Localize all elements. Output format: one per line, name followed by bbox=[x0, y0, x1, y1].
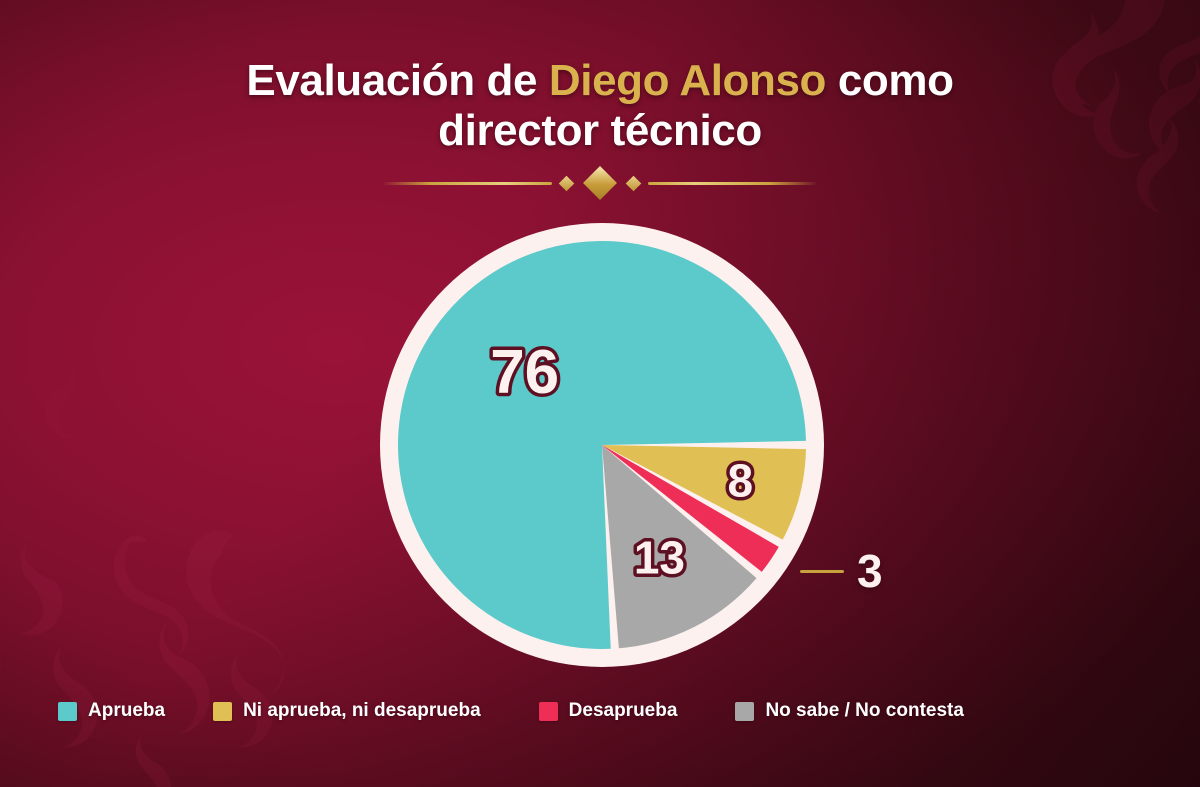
ornament-rule-right bbox=[648, 182, 816, 185]
legend-item-aprueba[interactable]: Aprueba bbox=[58, 700, 165, 722]
pie-chart: 76813 bbox=[374, 217, 830, 673]
title-line-2: director técnico bbox=[0, 106, 1200, 156]
ornament-rule-left bbox=[384, 182, 552, 185]
pie-value-label: 8 bbox=[728, 455, 754, 507]
title-text-part1: Evaluación de bbox=[246, 56, 549, 105]
legend-swatch-desaprueba bbox=[539, 702, 558, 721]
legend-label-ni-aprueba: Ni aprueba, ni desaprueba bbox=[243, 700, 481, 722]
legend-label-desaprueba: Desaprueba bbox=[569, 700, 678, 722]
ornament-diamond-center bbox=[583, 166, 617, 200]
pie-value-label: 13 bbox=[634, 532, 685, 584]
callout-leader-line bbox=[800, 570, 844, 573]
page-title: Evaluación de Diego Alonso como director… bbox=[0, 56, 1200, 156]
legend-swatch-ni-aprueba bbox=[213, 702, 232, 721]
callout-desaprueba: 3 bbox=[800, 548, 883, 594]
ornament-diamond-left bbox=[559, 175, 575, 191]
ornament-divider bbox=[0, 170, 1200, 196]
legend-label-no-sabe: No sabe / No contesta bbox=[765, 700, 964, 722]
legend-item-ni-aprueba[interactable]: Ni aprueba, ni desaprueba bbox=[213, 700, 481, 722]
legend-swatch-aprueba bbox=[58, 702, 77, 721]
callout-value-label: 3 bbox=[857, 548, 883, 594]
infographic-canvas: Evaluación de Diego Alonso como director… bbox=[0, 0, 1200, 787]
chart-legend: Aprueba Ni aprueba, ni desaprueba Desapr… bbox=[0, 700, 1200, 722]
legend-item-no-sabe[interactable]: No sabe / No contesta bbox=[735, 700, 964, 722]
legend-label-aprueba: Aprueba bbox=[88, 700, 165, 722]
legend-item-desaprueba[interactable]: Desaprueba bbox=[539, 700, 678, 722]
title-highlight-name: Diego Alonso bbox=[549, 56, 826, 105]
pie-value-label: 76 bbox=[490, 338, 559, 407]
title-line-1: Evaluación de Diego Alonso como bbox=[0, 56, 1200, 106]
legend-swatch-no-sabe bbox=[735, 702, 754, 721]
ornament-diamond-right bbox=[626, 175, 642, 191]
pie-chart-svg: 76813 bbox=[374, 217, 830, 673]
title-text-part2: como bbox=[826, 56, 954, 105]
